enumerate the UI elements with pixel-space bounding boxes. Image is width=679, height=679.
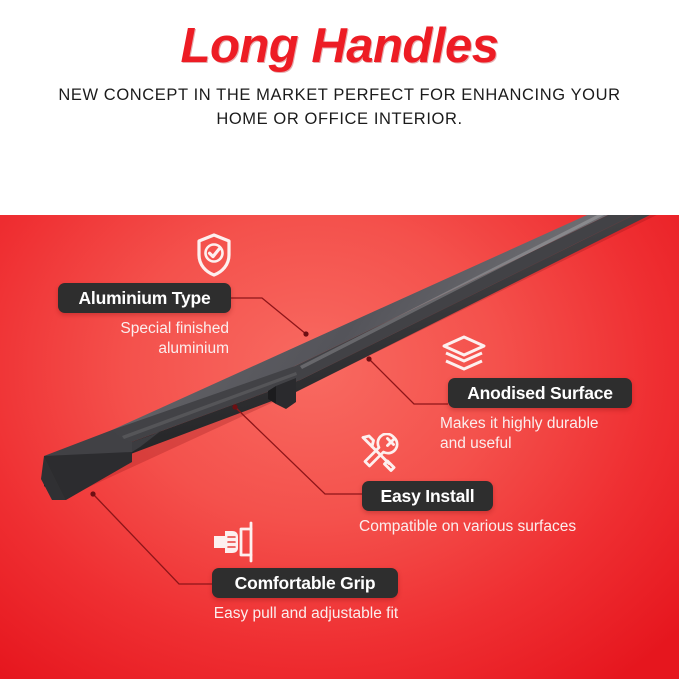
connector-dot-aluminium-type	[303, 331, 308, 336]
badge-comfortable-grip[interactable]: Comfortable Grip	[212, 568, 398, 598]
badge-aluminium-type[interactable]: Aluminium Type	[58, 283, 231, 313]
connector-aluminium-type	[231, 298, 306, 334]
badge-anodised-surface[interactable]: Anodised Surface	[448, 378, 632, 408]
badge-label-anodised-surface: Anodised Surface	[467, 383, 613, 404]
description-comfortable-grip: Easy pull and adjustable fit	[180, 604, 432, 624]
connector-comfortable-grip	[93, 494, 212, 584]
layers-stack-icon	[440, 334, 488, 376]
page-subtitle: NEW CONCEPT IN THE MARKET PERFECT FOR EN…	[30, 84, 649, 132]
badge-label-easy-install: Easy Install	[381, 486, 475, 507]
badge-easy-install[interactable]: Easy Install	[362, 481, 493, 511]
badge-label-aluminium-type: Aluminium Type	[78, 288, 210, 309]
description-aluminium-type: Special finished aluminium	[30, 319, 229, 359]
connector-anodised-surface	[369, 359, 448, 404]
connector-dot-anodised-surface	[366, 356, 371, 361]
connector-dot-easy-install	[232, 404, 237, 409]
shield-check-icon	[194, 232, 234, 278]
connector-easy-install	[235, 407, 362, 494]
wrench-screwdriver-icon	[356, 433, 402, 479]
header-banner: Long Handles NEW CONCEPT IN THE MARKET P…	[0, 0, 679, 215]
infographic-page: Long Handles NEW CONCEPT IN THE MARKET P…	[0, 0, 679, 679]
hand-grip-icon	[211, 521, 259, 563]
page-title: Long Handles	[0, 22, 679, 71]
connector-dot-comfortable-grip	[90, 491, 95, 496]
badge-label-comfortable-grip: Comfortable Grip	[235, 573, 376, 594]
description-anodised-surface: Makes it highly durable and useful	[440, 414, 665, 454]
description-easy-install: Compatible on various surfaces	[359, 517, 659, 537]
